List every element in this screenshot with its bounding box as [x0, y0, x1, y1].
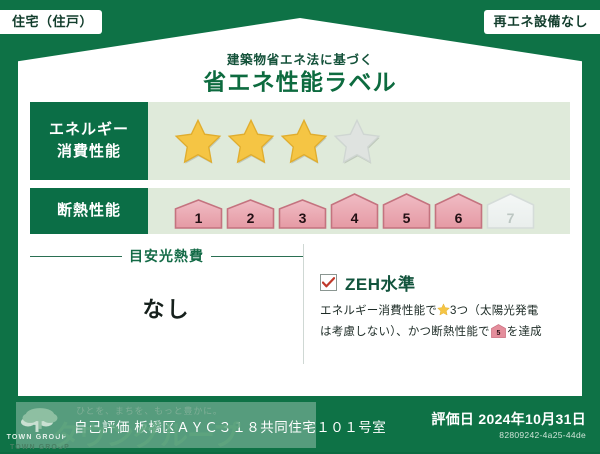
star-icon-inline — [437, 303, 450, 323]
rule-right — [211, 256, 303, 257]
town-group-brand-text: TOWN GROUP — [7, 434, 68, 441]
insulation-level-number: 7 — [486, 211, 535, 225]
energy-rating-value — [148, 102, 570, 180]
insulation-rating-value: 1234567 — [148, 188, 570, 234]
zeh-title: ZEH水準 — [345, 270, 416, 295]
insulation-level-number: 2 — [226, 211, 275, 225]
lower-section: 目安光熱費 なし ZEH水準 エネルギー消費性能で — [30, 244, 570, 364]
evaluation-id: 82809242-4a25-44de — [418, 430, 586, 440]
page-title: 省エネ性能ラベル — [203, 71, 397, 94]
insulation-level-4: 4 — [330, 193, 379, 229]
star-icon-empty — [333, 118, 381, 164]
zeh-desc-part3: は考慮しない）、かつ断熱性能で — [320, 326, 490, 338]
insulation-level-number: 1 — [174, 211, 223, 225]
zeh-desc-part4: を達成 — [507, 326, 542, 338]
zeh-description: エネルギー消費性能で 3つ（太陽光発電 は考慮しない）、かつ断熱性能で 5 を達… — [320, 302, 568, 345]
utility-cost-heading-text: 目安光熱費 — [129, 246, 204, 266]
utility-cost-value: なし — [142, 266, 190, 364]
energy-label-line2: 消費性能 — [57, 141, 121, 163]
evaluation-info: 評価日 2024年10月31日 82809242-4a25-44de — [418, 412, 600, 439]
house-level-scale: 1234567 — [174, 193, 535, 229]
label-panel: エネルギー 消費性能 断熱性能 1234567 目安光熱費 — [18, 92, 582, 396]
insulation-level-6: 6 — [434, 193, 483, 229]
insulation-level-number: 6 — [434, 211, 483, 225]
insulation-level-number: 5 — [382, 211, 431, 225]
label-footer: TOWN GROUP 自己評価 板橋区ＡＹＣ３１８共同住宅１０１号室 評価日 2… — [0, 400, 600, 452]
town-group-logo: TOWN GROUP — [0, 400, 74, 452]
utility-cost-heading: 目安光熱費 — [30, 246, 303, 266]
utility-cost-section: 目安光熱費 なし — [30, 244, 304, 364]
insulation-level-2: 2 — [226, 199, 275, 229]
tree-icon — [20, 411, 54, 433]
energy-performance-label: 住宅（住戸） 再エネ設備なし 建築物省エネ法に基づく 省エネ性能ラベル エネルギ… — [0, 0, 600, 452]
evaluation-date: 評価日 2024年10月31日 — [418, 412, 586, 427]
insulation-level-7: 7 — [486, 193, 535, 229]
energy-performance-row: エネルギー 消費性能 — [30, 102, 570, 180]
insulation-performance-row: 断熱性能 1234567 — [30, 188, 570, 234]
insulation-level-number: 3 — [278, 211, 327, 225]
building-type-tag: 住宅（住戸） — [0, 10, 102, 34]
energy-performance-label-box: エネルギー 消費性能 — [30, 102, 148, 180]
zeh-checkbox — [320, 274, 337, 291]
zeh-desc-part2: 3つ（太陽光発電 — [450, 305, 539, 317]
zeh-heading: ZEH水準 — [320, 270, 568, 295]
insulation-level-number: 4 — [330, 211, 379, 225]
star-rating — [174, 118, 381, 164]
insulation-level-5: 5 — [382, 193, 431, 229]
insulation-performance-label-box: 断熱性能 — [30, 188, 148, 234]
star-icon-filled — [227, 118, 275, 164]
rule-left — [30, 256, 122, 257]
star-icon-filled — [280, 118, 328, 164]
check-icon — [322, 277, 335, 288]
insulation-level-1: 1 — [174, 199, 223, 229]
insulation-level-3: 3 — [278, 199, 327, 229]
house-icon-inline: 5 — [491, 324, 506, 345]
zeh-section: ZEH水準 エネルギー消費性能で 3つ（太陽光発電 は考慮しない）、かつ断熱性能… — [304, 244, 570, 364]
star-icon-filled — [174, 118, 222, 164]
house-icon-number: 5 — [496, 330, 500, 337]
renewable-equipment-tag: 再エネ設備なし — [484, 10, 600, 34]
zeh-desc-part1: エネルギー消費性能で — [320, 305, 437, 317]
property-address: 自己評価 板橋区ＡＹＣ３１８共同住宅１０１号室 — [74, 416, 418, 436]
energy-label-line1: エネルギー — [49, 119, 129, 141]
label-subtitle: 建築物省エネ法に基づく — [227, 54, 373, 67]
insulation-label-text: 断熱性能 — [57, 200, 121, 222]
